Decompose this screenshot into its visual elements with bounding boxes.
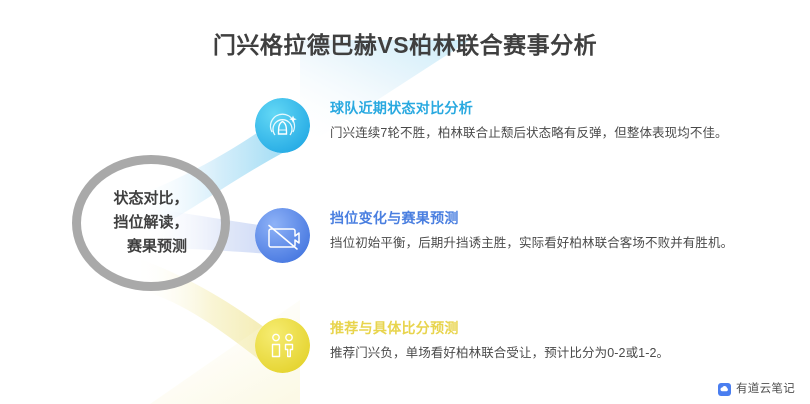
analysis-section-recommendation: 推荐与具体比分预测 推荐门兴负，单场看好柏林联合受让，预计比分为0-2或1-2。 [255,318,800,380]
two-people-icon [255,318,310,373]
section-text-block: 挡位变化与赛果预测 挡位初始平衡，后期升挡诱主胜，实际看好柏林联合客场不败并有胜… [330,209,800,252]
watermark-label: 有道云笔记 [736,383,795,396]
fingerprint-shield-icon [255,98,310,153]
no-signal-screen-icon [255,208,310,263]
hub-line-1: 状态对比， [113,188,188,210]
center-hub: 状态对比， 挡位解读， 赛果预测 [72,155,230,291]
section-body: 挡位初始平衡，后期升挡诱主胜，实际看好柏林联合客场不败并有胜机。 [330,234,800,252]
section-heading: 挡位变化与赛果预测 [330,209,800,228]
section-body: 门兴连续7轮不胜，柏林联合止颓后状态略有反弹，但整体表现均不佳。 [330,124,800,142]
section-body: 推荐门兴负，单场看好柏林联合受让，预计比分为0-2或1-2。 [330,344,800,362]
analysis-section-odds-change: 挡位变化与赛果预测 挡位初始平衡，后期升挡诱主胜，实际看好柏林联合客场不败并有胜… [255,208,800,270]
analysis-section-form-comparison: 球队近期状态对比分析 门兴连续7轮不胜，柏林联合止颓后状态略有反弹，但整体表现均… [255,98,800,160]
section-text-block: 推荐与具体比分预测 推荐门兴负，单场看好柏林联合受让，预计比分为0-2或1-2。 [330,319,800,362]
hub-line-2: 挡位解读， [113,212,188,234]
hub-label-group: 状态对比， 挡位解读， 赛果预测 [72,155,230,291]
section-heading: 球队近期状态对比分析 [330,99,800,118]
infographic-canvas: 门兴格拉德巴赫VS柏林联合赛事分析 状态对比， 挡位解读， 赛果预测 [0,0,810,404]
page-title: 门兴格拉德巴赫VS柏林联合赛事分析 [0,30,810,60]
hub-line-3: 赛果预测 [115,236,187,258]
youdao-cloud-note-icon [718,383,731,396]
section-heading: 推荐与具体比分预测 [330,319,800,338]
section-text-block: 球队近期状态对比分析 门兴连续7轮不胜，柏林联合止颓后状态略有反弹，但整体表现均… [330,99,800,142]
watermark: 有道云笔记 [718,383,795,396]
